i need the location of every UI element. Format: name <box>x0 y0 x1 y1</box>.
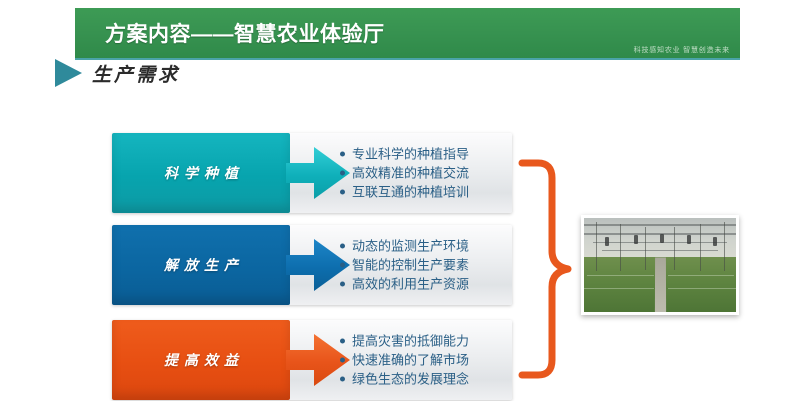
list-item: 专业科学的种植指导 <box>340 145 469 164</box>
content-row: 解放生产 动态的监测生产环境 智能的控制生产要素 高效的利用生产资源 <box>112 225 512 305</box>
greenhouse-crop-row <box>668 275 735 276</box>
greenhouse-crop-row <box>668 288 736 289</box>
bullet-list: 专业科学的种植指导 高效精准的种植交流 互联互通的种植培训 <box>340 145 469 202</box>
greenhouse-walkway <box>655 258 666 312</box>
greenhouse-crop-row <box>587 275 654 276</box>
section-label: 生产需求 <box>92 60 180 87</box>
greenhouse-photo <box>581 215 739 315</box>
list-item: 互联互通的种植培训 <box>340 183 469 202</box>
greenhouse-lamp <box>660 234 664 243</box>
greenhouse-lamp <box>687 235 691 244</box>
content-row: 提高效益 提高灾害的抵御能力 快速准确的了解市场 绿色生态的发展理念 <box>112 320 512 400</box>
greenhouse-post <box>700 224 701 271</box>
page-title: 方案内容——智慧农业体验厅 <box>105 18 385 48</box>
header-slogan: 科技感知农业 智慧创造未来 <box>634 45 730 55</box>
category-box[interactable]: 解放生产 <box>112 225 290 305</box>
greenhouse-lamp <box>713 237 717 246</box>
list-item: 高效的利用生产资源 <box>340 275 469 294</box>
content-row: 科学种植 专业科学的种植指导 高效精准的种植交流 互联互通的种植培训 <box>112 133 512 213</box>
triangle-right-icon <box>55 59 82 87</box>
list-item: 智能的控制生产要素 <box>340 256 469 275</box>
greenhouse-photo-image <box>584 218 736 312</box>
greenhouse-post <box>596 222 597 271</box>
category-box-label: 解放生产 <box>158 255 244 275</box>
greenhouse-crop-row <box>584 288 654 289</box>
greenhouse-beam <box>584 224 736 226</box>
list-item: 提高灾害的抵御能力 <box>340 332 469 351</box>
slide-canvas: 方案内容——智慧农业体验厅 科技感知农业 智慧创造未来 生产需求 科学种植 <box>0 0 800 401</box>
category-box-label: 提高效益 <box>158 350 244 370</box>
list-item: 绿色生态的发展理念 <box>340 370 469 389</box>
list-item: 快速准确的了解市场 <box>340 351 469 370</box>
greenhouse-post <box>645 227 646 269</box>
greenhouse-post <box>620 224 621 271</box>
list-item: 高效精准的种植交流 <box>340 164 469 183</box>
category-box[interactable]: 提高效益 <box>112 320 290 400</box>
list-item: 动态的监测生产环境 <box>340 237 469 256</box>
greenhouse-lamp <box>605 237 609 246</box>
bullet-list: 提高灾害的抵御能力 快速准确的了解市场 绿色生态的发展理念 <box>340 332 469 389</box>
curly-brace-right-icon <box>518 158 574 380</box>
bullet-list: 动态的监测生产环境 智能的控制生产要素 高效的利用生产资源 <box>340 237 469 294</box>
header-bar: 方案内容——智慧农业体验厅 科技感知农业 智慧创造未来 <box>75 8 740 58</box>
greenhouse-post <box>724 222 725 271</box>
greenhouse-post <box>674 227 675 269</box>
category-box-label: 科学种植 <box>158 163 244 183</box>
category-box[interactable]: 科学种植 <box>112 133 290 213</box>
greenhouse-lamp <box>634 235 638 244</box>
